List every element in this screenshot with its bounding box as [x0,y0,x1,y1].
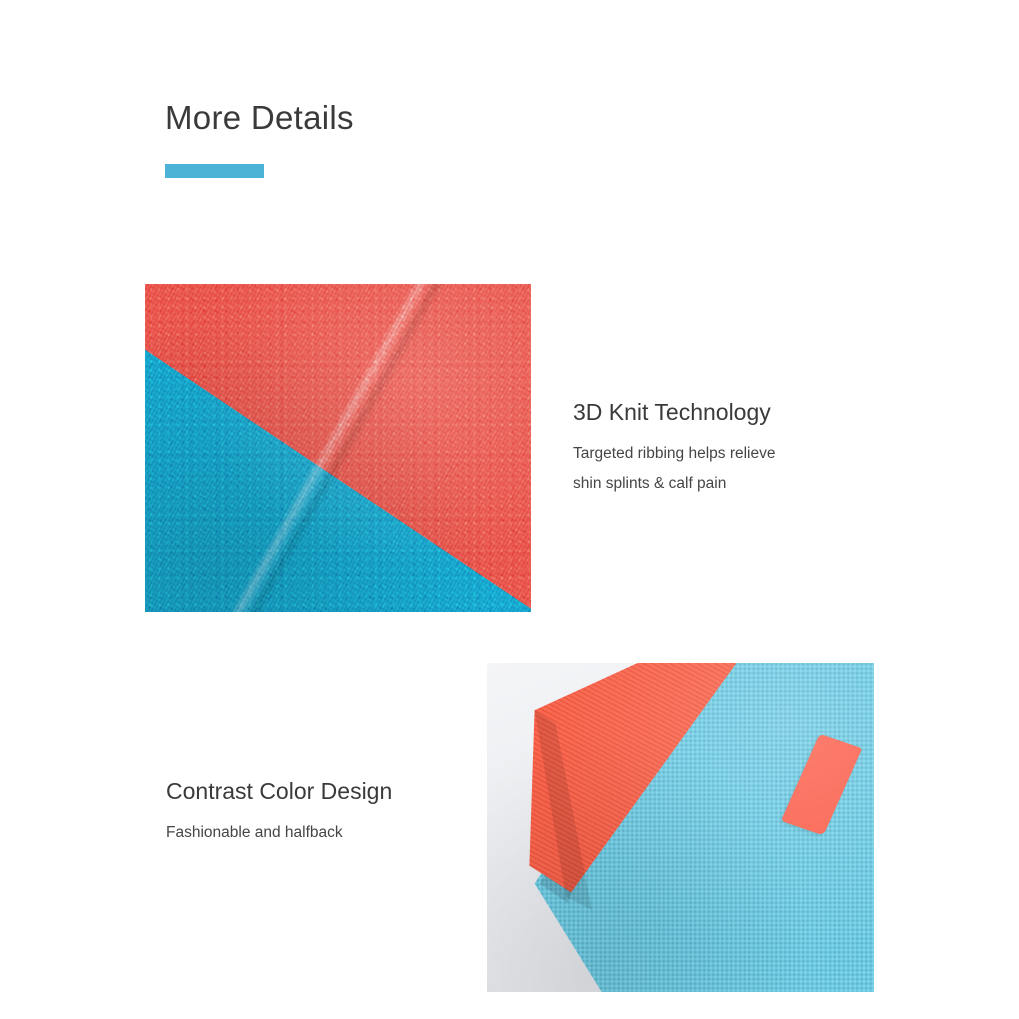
page-title: More Details [165,96,354,140]
title-accent-bar [165,164,264,178]
feature-image-sleeve-fold [487,663,874,992]
sleeve-lighting-overlay [487,663,874,992]
feature-text-block-2: Contrast Color Design Fashionable and ha… [166,776,496,848]
feature-heading: 3D Knit Technology [573,397,903,427]
product-detail-page: More Details 3D Knit Technology Targeted… [0,0,1019,1019]
feature-description-line: Targeted ribbing helps relieve [573,439,903,469]
feature-heading: Contrast Color Design [166,776,496,806]
feature-image-knit-closeup [145,284,531,612]
feature-description-line: Fashionable and halfback [166,818,496,848]
knit-lighting-overlay [145,284,531,612]
feature-description: Targeted ribbing helps relieve shin spli… [573,439,903,499]
feature-description: Fashionable and halfback [166,818,496,848]
feature-text-block-1: 3D Knit Technology Targeted ribbing help… [573,397,903,499]
feature-description-line: shin splints & calf pain [573,469,903,499]
